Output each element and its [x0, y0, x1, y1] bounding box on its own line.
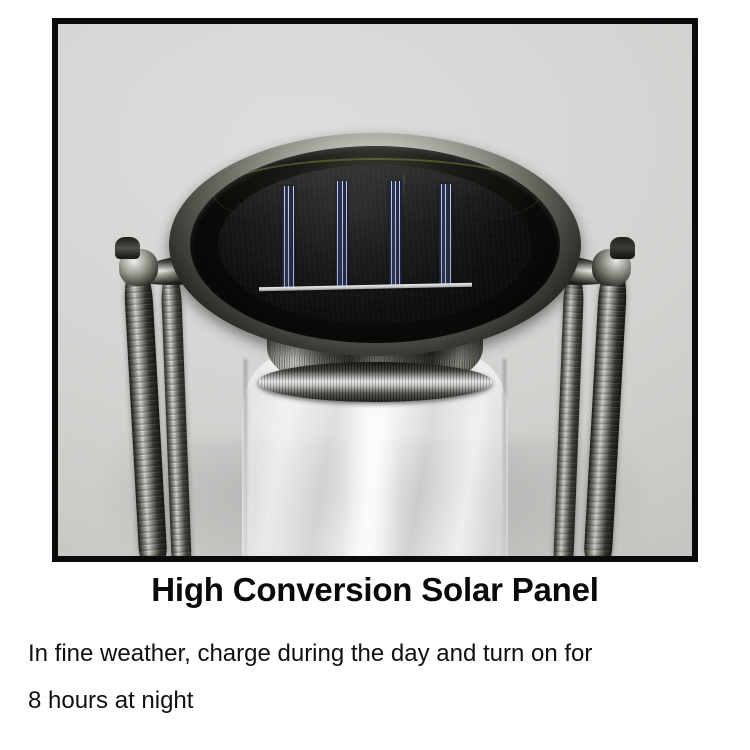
glass-right-edge: [503, 359, 506, 556]
metal-collar-ring-texture: [258, 362, 493, 402]
glass-left-edge: [244, 359, 247, 556]
panel-edge-seal: [213, 158, 542, 231]
description-text: In fine weather, charge during the day a…: [28, 630, 732, 724]
product-photo: [58, 24, 692, 556]
product-feature-page: High Conversion Solar Panel In fine weat…: [0, 0, 750, 750]
left-arm-tip: [115, 237, 140, 259]
right-arm-tip: [610, 237, 635, 259]
description-line-1: In fine weather, charge during the day a…: [28, 630, 732, 677]
panel-bezel: [190, 146, 559, 343]
product-image-frame[interactable]: [52, 18, 698, 562]
solar-panel-lid: [169, 133, 581, 356]
page-title: High Conversion Solar Panel: [0, 571, 750, 609]
description-line-2: 8 hours at night: [28, 677, 732, 724]
